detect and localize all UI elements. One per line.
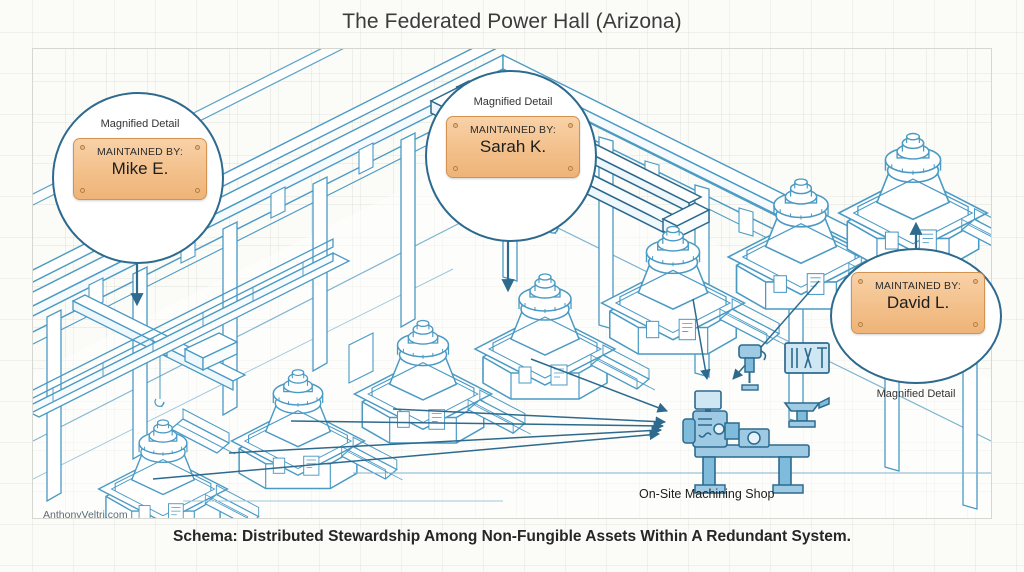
screw-icon — [973, 322, 978, 327]
callout-bubble-david[interactable]: MAINTAINED BY: David L. — [830, 248, 1002, 384]
screw-icon — [80, 188, 85, 193]
screw-icon — [568, 123, 573, 128]
plate-lead-sarah: MAINTAINED BY: — [447, 124, 579, 136]
page-title: The Federated Power Hall (Arizona) — [0, 10, 1024, 34]
watermark: AnthonyVeltri.com — [43, 509, 128, 519]
screw-icon — [568, 166, 573, 171]
figure-caption: Schema: Distributed Stewardship Among No… — [0, 528, 1024, 546]
screw-icon — [973, 279, 978, 284]
screw-icon — [453, 123, 458, 128]
screw-icon — [195, 145, 200, 150]
callout-bubble-mike[interactable]: Magnified Detail MAINTAINED BY: Mike E. — [52, 92, 224, 264]
plate-lead-david: MAINTAINED BY: — [852, 280, 984, 292]
callout-bubble-sarah[interactable]: Magnified Detail MAINTAINED BY: Sarah K. — [425, 70, 597, 242]
nameplate-sarah: MAINTAINED BY: Sarah K. — [446, 116, 580, 178]
screw-icon — [195, 188, 200, 193]
screw-icon — [453, 166, 458, 171]
magnified-detail-label-sarah: Magnified Detail — [427, 96, 599, 108]
screw-icon — [858, 322, 863, 327]
nameplate-mike: MAINTAINED BY: Mike E. — [73, 138, 207, 200]
magnified-detail-label-mike: Magnified Detail — [54, 118, 226, 130]
magnified-detail-label-david: Magnified Detail — [830, 388, 1002, 400]
nameplate-david: MAINTAINED BY: David L. — [851, 272, 985, 334]
plate-name-sarah: Sarah K. — [447, 137, 579, 157]
machining-shop-label: On-Site Machining Shop — [639, 487, 775, 501]
screw-icon — [858, 279, 863, 284]
screw-icon — [80, 145, 85, 150]
plate-lead-mike: MAINTAINED BY: — [74, 146, 206, 158]
plate-name-mike: Mike E. — [74, 159, 206, 179]
plate-name-david: David L. — [852, 293, 984, 313]
